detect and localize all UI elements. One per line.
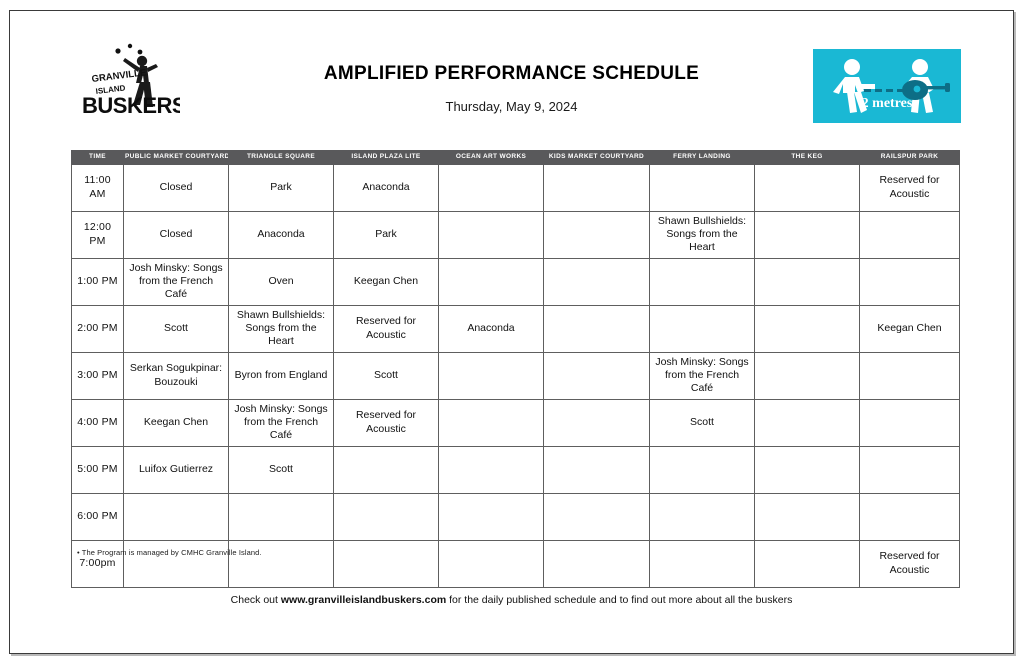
schedule-table-container: TIME PUBLIC MARKET COURTYARD TRIANGLE SQ… <box>71 150 959 588</box>
table-row: 11:00 AMClosedParkAnacondaReserved for A… <box>72 164 960 211</box>
performance-cell: Scott <box>229 446 334 493</box>
empty-cell <box>860 211 960 258</box>
empty-cell <box>544 258 650 305</box>
schedule-table: TIME PUBLIC MARKET COURTYARD TRIANGLE SQ… <box>71 150 960 588</box>
table-row: 12:00 PMClosedAnacondaParkShawn Bullshie… <box>72 211 960 258</box>
empty-cell <box>544 352 650 399</box>
document-header: GRANVILLE ISLAND BUSKERS AMPLIFIED PERFO… <box>10 11 1013 131</box>
empty-cell <box>650 446 755 493</box>
performance-cell: Keegan Chen <box>334 258 439 305</box>
column-header-railspur-park: RAILSPUR PARK <box>860 151 960 165</box>
empty-cell <box>755 352 860 399</box>
column-header-the-keg: THE KEG <box>755 151 860 165</box>
time-cell: 2:00 PM <box>72 305 124 352</box>
performance-cell: Keegan Chen <box>124 399 229 446</box>
empty-cell <box>650 493 755 540</box>
website-footer: Check out www.granvilleislandbuskers.com… <box>10 594 1013 606</box>
time-cell: 1:00 PM <box>72 258 124 305</box>
juggler-icon: GRANVILLE ISLAND BUSKERS <box>70 35 180 120</box>
empty-cell <box>650 540 755 587</box>
empty-cell <box>124 493 229 540</box>
empty-cell <box>650 164 755 211</box>
empty-cell <box>544 446 650 493</box>
empty-cell <box>439 493 544 540</box>
performance-cell: Reserved for Acoustic <box>334 305 439 352</box>
empty-cell <box>439 258 544 305</box>
table-row: 3:00 PMSerkan Sogukpinar: BouzoukiByron … <box>72 352 960 399</box>
performance-cell: Anaconda <box>439 305 544 352</box>
weblink-suffix: for the daily published schedule and to … <box>446 594 792 606</box>
distance-label: 2 metres <box>862 96 913 111</box>
empty-cell <box>650 305 755 352</box>
distance-dashes <box>864 89 904 92</box>
time-cell: 12:00 PM <box>72 211 124 258</box>
empty-cell <box>439 164 544 211</box>
table-header-row: TIME PUBLIC MARKET COURTYARD TRIANGLE SQ… <box>72 151 960 165</box>
time-cell: 5:00 PM <box>72 446 124 493</box>
empty-cell <box>755 493 860 540</box>
time-cell: 3:00 PM <box>72 352 124 399</box>
time-cell: 6:00 PM <box>72 493 124 540</box>
performance-cell: Scott <box>334 352 439 399</box>
empty-cell <box>439 399 544 446</box>
empty-cell <box>334 493 439 540</box>
empty-cell <box>755 211 860 258</box>
footnote: • The Program is managed by CMHC Granvil… <box>77 548 262 557</box>
performance-cell: Luifox Gutierrez <box>124 446 229 493</box>
empty-cell <box>544 305 650 352</box>
performance-cell: Anaconda <box>229 211 334 258</box>
performance-cell: Anaconda <box>334 164 439 211</box>
performance-cell: Reserved for Acoustic <box>334 399 439 446</box>
table-row: 2:00 PMScottShawn Bullshields: Songs fro… <box>72 305 960 352</box>
performance-cell: Park <box>334 211 439 258</box>
table-row: 5:00 PMLuifox GutierrezScott <box>72 446 960 493</box>
empty-cell <box>439 446 544 493</box>
performance-cell: Closed <box>124 164 229 211</box>
schedule-table-body: 11:00 AMClosedParkAnacondaReserved for A… <box>72 164 960 587</box>
column-header-triangle-square: TRIANGLE SQUARE <box>229 151 334 165</box>
performance-cell: Park <box>229 164 334 211</box>
performance-cell: Scott <box>650 399 755 446</box>
performance-cell: Reserved for Acoustic <box>860 540 960 587</box>
table-row: 6:00 PM <box>72 493 960 540</box>
empty-cell <box>755 258 860 305</box>
empty-cell <box>439 352 544 399</box>
empty-cell <box>544 399 650 446</box>
website-url-link[interactable]: www.granvilleislandbuskers.com <box>281 594 446 606</box>
svg-text:BUSKERS: BUSKERS <box>82 93 180 118</box>
empty-cell <box>755 305 860 352</box>
empty-cell <box>755 446 860 493</box>
empty-cell <box>860 399 960 446</box>
empty-cell <box>334 540 439 587</box>
empty-cell <box>334 446 439 493</box>
performance-cell: Byron from England <box>229 352 334 399</box>
empty-cell <box>860 258 960 305</box>
time-cell: 4:00 PM <box>72 399 124 446</box>
schedule-date: Thursday, May 9, 2024 <box>232 99 792 114</box>
column-header-ferry-landing: FERRY LANDING <box>650 151 755 165</box>
empty-cell <box>544 164 650 211</box>
empty-cell <box>650 258 755 305</box>
table-row: 1:00 PMJosh Minsky: Songs from the Frenc… <box>72 258 960 305</box>
physical-distancing-badge: 2 metres <box>813 49 961 123</box>
empty-cell <box>755 164 860 211</box>
performance-cell: Josh Minsky: Songs from the French Café <box>650 352 755 399</box>
column-header-kids-market-courtyard: KIDS MARKET COURTYARD <box>544 151 650 165</box>
empty-cell <box>860 446 960 493</box>
weblink-prefix: Check out <box>231 594 281 606</box>
table-row: 4:00 PMKeegan ChenJosh Minsky: Songs fro… <box>72 399 960 446</box>
empty-cell <box>544 540 650 587</box>
empty-cell <box>860 493 960 540</box>
column-header-island-plaza-lite: ISLAND PLAZA LITE <box>334 151 439 165</box>
performance-cell: Josh Minsky: Songs from the French Café <box>124 258 229 305</box>
performance-cell: Reserved for Acoustic <box>860 164 960 211</box>
empty-cell <box>860 352 960 399</box>
granville-island-buskers-logo: GRANVILLE ISLAND BUSKERS <box>70 35 180 120</box>
empty-cell <box>544 493 650 540</box>
empty-cell <box>544 211 650 258</box>
performance-cell: Shawn Bullshields: Songs from the Heart <box>650 211 755 258</box>
time-cell: 11:00 AM <box>72 164 124 211</box>
column-header-ocean-art-works: OCEAN ART WORKS <box>439 151 544 165</box>
empty-cell <box>439 540 544 587</box>
title-block: AMPLIFIED PERFORMANCE SCHEDULE Thursday,… <box>232 63 792 114</box>
performance-cell: Keegan Chen <box>860 305 960 352</box>
performance-cell: Oven <box>229 258 334 305</box>
performance-cell: Serkan Sogukpinar: Bouzouki <box>124 352 229 399</box>
empty-cell <box>755 540 860 587</box>
page-title: AMPLIFIED PERFORMANCE SCHEDULE <box>232 63 792 85</box>
empty-cell <box>755 399 860 446</box>
performance-cell: Shawn Bullshields: Songs from the Heart <box>229 305 334 352</box>
performance-cell: Scott <box>124 305 229 352</box>
column-header-time: TIME <box>72 151 124 165</box>
empty-cell <box>439 211 544 258</box>
performance-cell: Closed <box>124 211 229 258</box>
column-header-public-market-courtyard: PUBLIC MARKET COURTYARD <box>124 151 229 165</box>
performance-cell: Josh Minsky: Songs from the French Café <box>229 399 334 446</box>
document-page: GRANVILLE ISLAND BUSKERS AMPLIFIED PERFO… <box>9 10 1014 654</box>
empty-cell <box>229 493 334 540</box>
